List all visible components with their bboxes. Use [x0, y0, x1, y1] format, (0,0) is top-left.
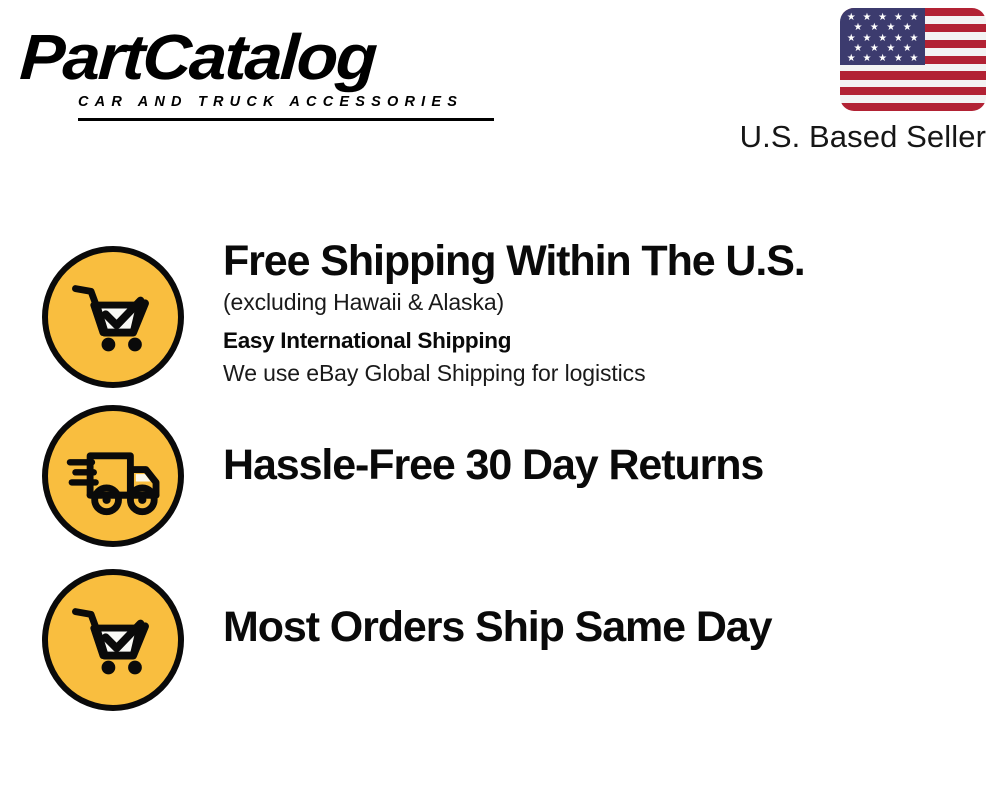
- feature-text-block: Most Orders Ship Same Day: [223, 602, 980, 652]
- feature-row: Hassle-Free 30 Day Returns: [0, 408, 1000, 580]
- feature-sub-heading: Easy International Shipping: [223, 325, 980, 357]
- feature-text-block: Free Shipping Within The U.S. (excluding…: [223, 236, 980, 389]
- flag-canton: ★★★★★ ★★★★ ★★★★★ ★★★★ ★★★★★: [840, 8, 925, 65]
- promo-banner: PartCatalog CAR AND TRUCK ACCESSORIES ★★…: [0, 0, 1000, 800]
- brand-logo: PartCatalog CAR AND TRUCK ACCESSORIES: [22, 22, 492, 122]
- feature-row: Most Orders Ship Same Day: [0, 580, 1000, 752]
- feature-note: (excluding Hawaii & Alaska): [223, 286, 980, 318]
- us-flag-icon: ★★★★★ ★★★★ ★★★★★ ★★★★ ★★★★★: [840, 8, 986, 111]
- feature-text-block: Hassle-Free 30 Day Returns: [223, 440, 980, 490]
- brand-underline-rule: [78, 118, 494, 121]
- feature-title: Hassle-Free 30 Day Returns: [223, 440, 980, 490]
- brand-wordmark: PartCatalog: [18, 22, 520, 92]
- shopping-cart-check-icon: [42, 246, 184, 388]
- us-based-seller-badge: ★★★★★ ★★★★ ★★★★★ ★★★★ ★★★★★ U.S. Based S…: [726, 8, 986, 155]
- feature-sub-text: We use eBay Global Shipping for logistic…: [223, 357, 980, 389]
- feature-list: Free Shipping Within The U.S. (excluding…: [0, 236, 1000, 752]
- feature-title: Free Shipping Within The U.S.: [223, 236, 980, 286]
- feature-row: Free Shipping Within The U.S. (excluding…: [0, 236, 1000, 408]
- brand-tagline: CAR AND TRUCK ACCESSORIES: [78, 94, 492, 110]
- shopping-cart-check-icon: [42, 569, 184, 711]
- feature-title: Most Orders Ship Same Day: [223, 602, 980, 652]
- delivery-truck-icon: [42, 405, 184, 547]
- us-based-seller-label: U.S. Based Seller: [726, 119, 986, 155]
